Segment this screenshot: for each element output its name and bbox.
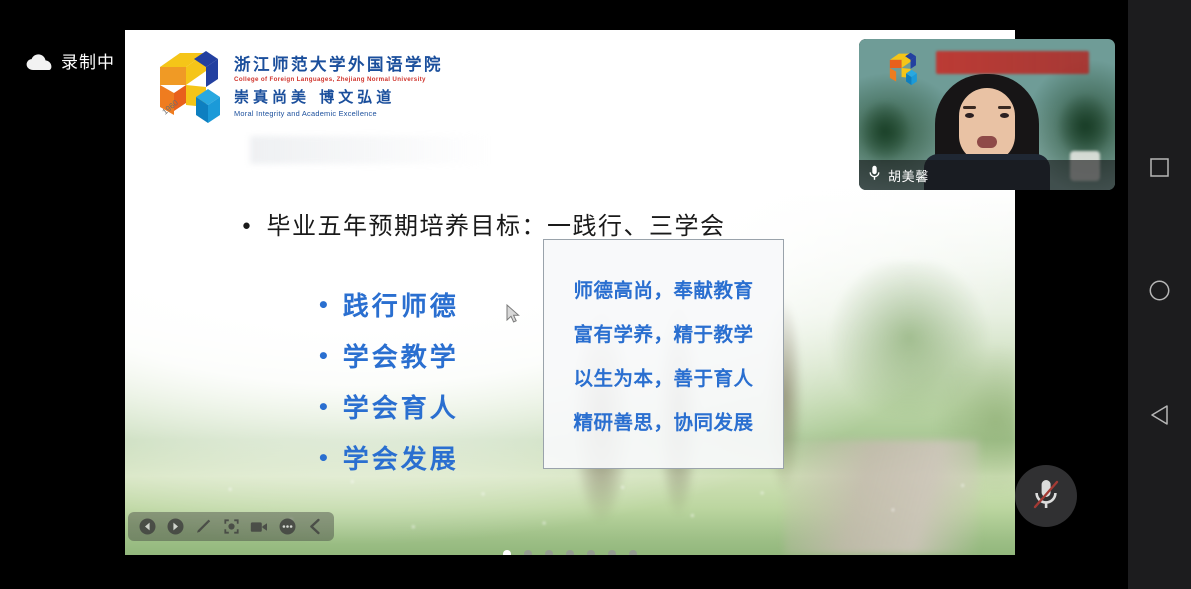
- zjnu-cube-logo-icon: 1960: [150, 45, 224, 125]
- backdrop-logo-icon: [885, 50, 919, 86]
- recording-label: 录制中: [61, 54, 115, 71]
- more-options-button[interactable]: [273, 512, 301, 541]
- participant-name-bar: 胡美馨: [859, 160, 1115, 190]
- page-dot[interactable]: [629, 550, 637, 555]
- list-item: • 学会教学: [317, 337, 459, 374]
- page-dot[interactable]: [608, 550, 616, 555]
- circle-icon: [1149, 280, 1170, 306]
- annotation-toolbar[interactable]: [128, 512, 334, 541]
- triangle-left-icon: [1150, 405, 1169, 430]
- backdrop-banner: [936, 51, 1090, 74]
- page-dot[interactable]: [503, 550, 511, 555]
- page-indicator[interactable]: [125, 550, 1015, 555]
- slide-main-bullet-text: 毕业五年预期培养目标：一践行、三学会: [266, 206, 725, 241]
- app-screen: 录制中: [0, 0, 1191, 589]
- bullet-marker-icon: •: [317, 397, 333, 417]
- mute-microphone-button[interactable]: [1015, 465, 1077, 527]
- bullet-marker-icon: •: [240, 217, 254, 239]
- page-dot[interactable]: [524, 550, 532, 555]
- quote-line: 精研善思，协同发展: [560, 406, 767, 435]
- collapse-toolbar-button[interactable]: [301, 512, 329, 541]
- page-dot[interactable]: [566, 550, 574, 555]
- participant-video-tile[interactable]: 胡美馨: [859, 39, 1115, 190]
- logo-motto-cn: 崇真尚美 博文弘道: [234, 89, 443, 106]
- bullet-marker-icon: •: [317, 295, 333, 315]
- bullet-marker-icon: •: [317, 448, 333, 468]
- recents-button[interactable]: [1128, 147, 1191, 193]
- android-navigation-bar: [1128, 0, 1191, 589]
- recording-indicator: 录制中: [26, 54, 115, 71]
- slide-quote-box: 师德高尚，奉献教育 富有学养，精于教学 以生为本，善于育人 精研善思，协同发展: [543, 239, 784, 469]
- quote-line: 以生为本，善于育人: [560, 362, 767, 391]
- quote-line: 富有学养，精于教学: [560, 318, 767, 347]
- cloud-icon: [26, 54, 52, 71]
- logo-institution-cn: 浙江师范大学外国语学院: [234, 56, 443, 74]
- record-video-button[interactable]: [245, 512, 273, 541]
- institution-logo: 1960 浙江师范大学外国语学院 College of Foreign Lang…: [150, 45, 443, 125]
- participant-name: 胡美馨: [888, 166, 929, 185]
- pen-tool-button[interactable]: [189, 512, 217, 541]
- quote-line: 师德高尚，奉献教育: [560, 274, 767, 303]
- bullet-marker-icon: •: [317, 346, 333, 366]
- slide-blue-list: • 践行师德 • 学会教学 • 学会育人 • 学会发展: [317, 286, 459, 476]
- mouse-cursor-icon: [506, 304, 521, 324]
- microphone-muted-icon: [1031, 477, 1061, 516]
- home-button[interactable]: [1128, 270, 1191, 316]
- square-icon: [1150, 158, 1169, 182]
- list-item-label: 学会育人: [343, 388, 459, 425]
- logo-institution-en: College of Foreign Languages, Zhejiang N…: [234, 76, 443, 83]
- list-item-label: 学会发展: [343, 439, 459, 476]
- list-item: • 学会发展: [317, 439, 459, 476]
- logo-motto-en: Moral Integrity and Academic Excellence: [234, 110, 443, 118]
- previous-slide-button[interactable]: [133, 512, 161, 541]
- list-item: • 学会育人: [317, 388, 459, 425]
- back-button[interactable]: [1128, 394, 1191, 440]
- page-dot[interactable]: [587, 550, 595, 555]
- slide-main-bullet: • 毕业五年预期培养目标：一践行、三学会: [240, 206, 725, 241]
- faded-heading-remnant: [250, 136, 490, 164]
- next-slide-button[interactable]: [161, 512, 189, 541]
- microphone-icon: [869, 165, 880, 186]
- list-item-label: 学会教学: [343, 337, 459, 374]
- page-dot[interactable]: [545, 550, 553, 555]
- list-item-label: 践行师德: [343, 286, 459, 323]
- list-item: • 践行师德: [317, 286, 459, 323]
- screenshot-button[interactable]: [217, 512, 245, 541]
